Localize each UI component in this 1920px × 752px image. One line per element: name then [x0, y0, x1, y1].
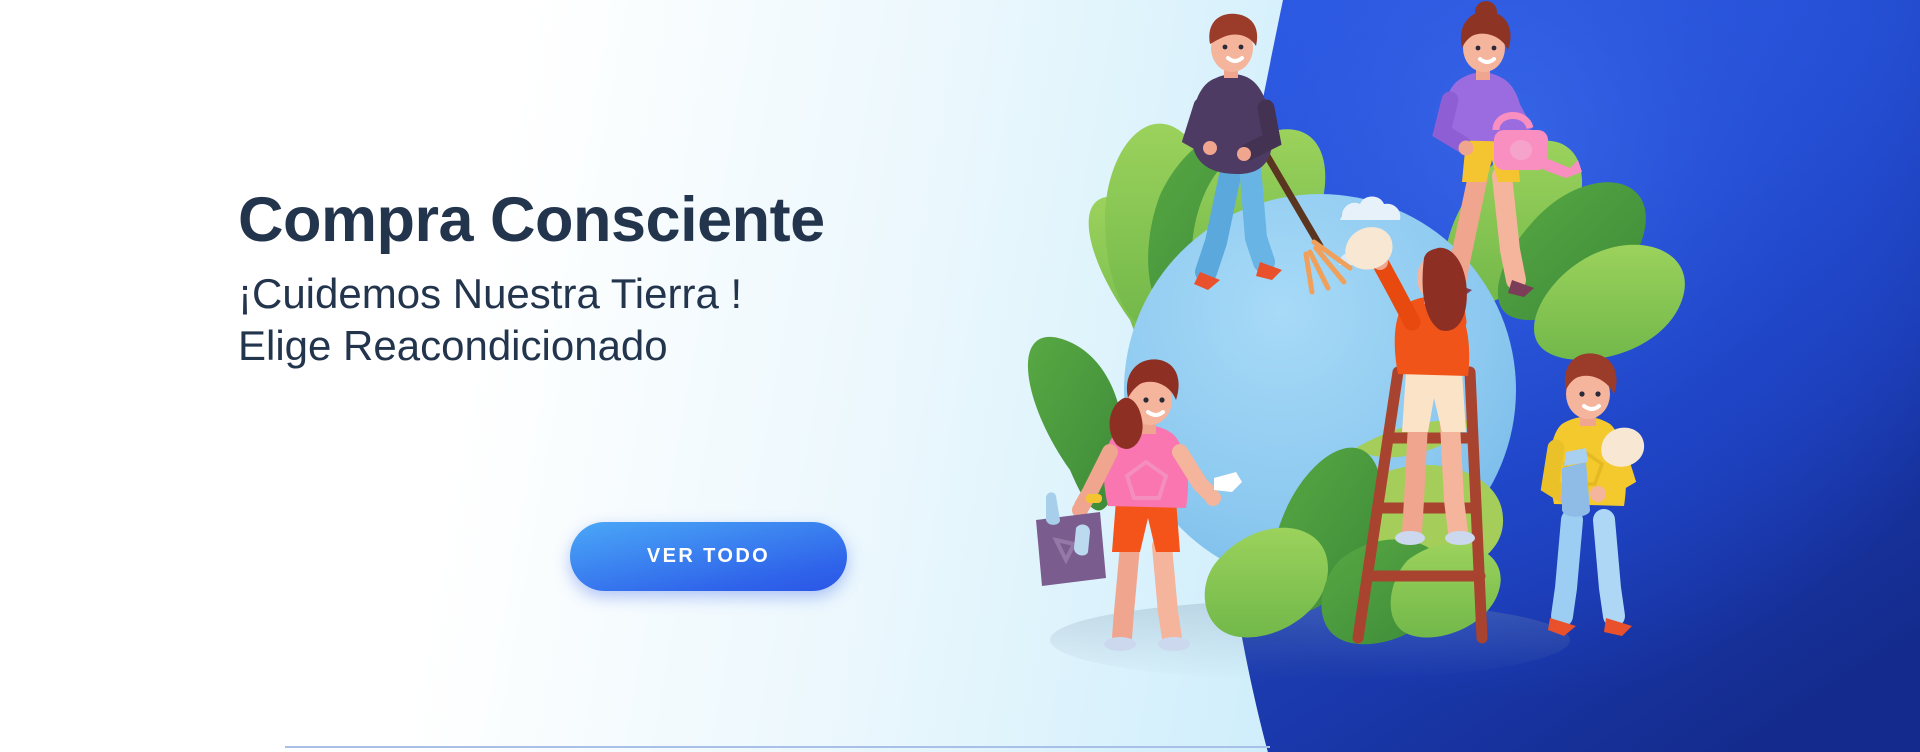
wristband [1086, 494, 1102, 503]
page-title: Compra Consciente [238, 188, 1058, 254]
bottom-divider [285, 746, 1270, 748]
shoe-back [1104, 637, 1136, 651]
shorts [1112, 500, 1180, 552]
hand-right [1237, 147, 1251, 161]
hand-right [1590, 486, 1606, 502]
ver-todo-button[interactable]: VER TODO [570, 522, 847, 591]
banner-text-block: Compra Consciente ¡Cuidemos Nuestra Tier… [238, 188, 1058, 373]
leg-back [1562, 520, 1572, 616]
subtitle-line-2: Elige Reacondicionado [238, 320, 1058, 373]
leg-front [1250, 166, 1264, 262]
leg-front [1450, 424, 1458, 532]
shoe-back [1395, 531, 1425, 545]
hand-right [1205, 490, 1221, 506]
promo-banner: Compra Consciente ¡Cuidemos Nuestra Tier… [0, 0, 1920, 752]
spray-bottle [1562, 448, 1590, 517]
leg-back [1122, 546, 1130, 638]
figure-boy-spray [1548, 353, 1644, 636]
bottle-1 [1046, 492, 1060, 525]
hair-bun [1475, 1, 1497, 23]
hand-left [1203, 141, 1217, 155]
hand-left [1459, 141, 1474, 156]
shoe-front [1445, 531, 1475, 545]
bottle-2 [1074, 525, 1090, 556]
arm-left [1192, 106, 1206, 146]
subtitle-line-1: ¡Cuidemos Nuestra Tierra ! [238, 268, 1058, 321]
leg-front [1162, 546, 1172, 638]
leg-back [1412, 424, 1418, 532]
shoe-front [1158, 637, 1190, 651]
leg-front [1604, 520, 1614, 616]
cta-container: VER TODO [570, 522, 847, 591]
earth-care-illustration [1010, 0, 1770, 752]
